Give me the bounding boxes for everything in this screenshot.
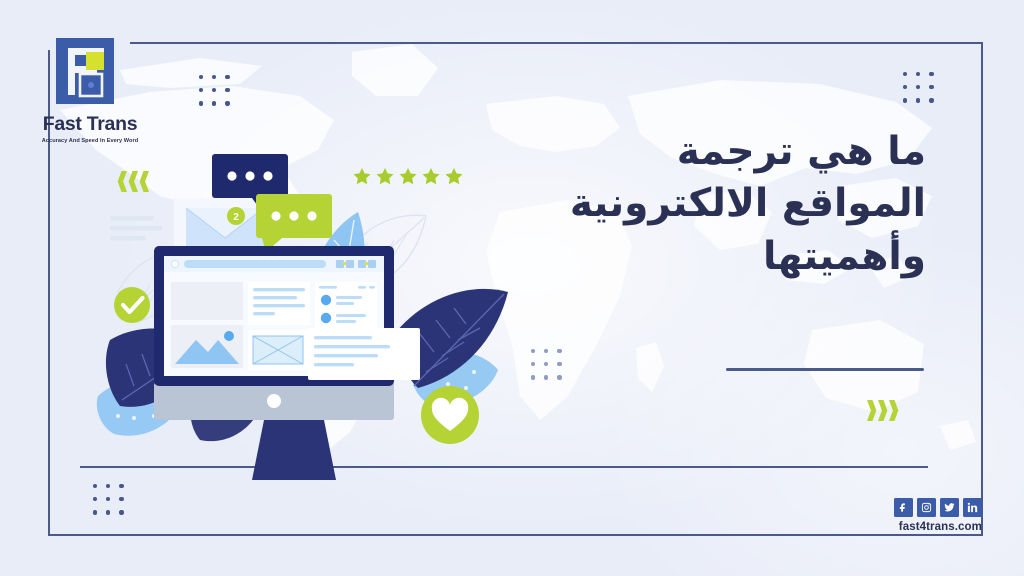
social-instagram-icon[interactable] xyxy=(917,498,936,517)
frame-bottom-border xyxy=(48,534,983,536)
brand-name: Fast Trans xyxy=(30,113,150,136)
dot-grid-top-right xyxy=(903,72,934,103)
social-twitter-icon[interactable] xyxy=(940,498,959,517)
chat-bubble-green xyxy=(256,194,332,252)
headline-underline xyxy=(726,368,924,371)
text-lines-left xyxy=(110,216,162,241)
social-facebook-icon[interactable] xyxy=(894,498,913,517)
brand-logo-block: Fast Trans Accuracy And Speed In Every W… xyxy=(30,38,150,144)
chevron-right-icon xyxy=(867,400,900,421)
dot-grid-top-left xyxy=(199,75,230,106)
social-linkedin-icon[interactable] xyxy=(963,498,982,517)
fast-trans-logo-icon xyxy=(56,38,114,104)
notification-badge: 2 xyxy=(227,207,245,225)
svg-text:2: 2 xyxy=(233,212,239,223)
frame-right-border xyxy=(981,42,983,536)
heart-badge xyxy=(421,386,479,444)
poster-canvas: Fast Trans Accuracy And Speed In Every W… xyxy=(0,0,1024,576)
brand-tagline: Accuracy And Speed In Every Word xyxy=(30,138,150,144)
dot-grid-center xyxy=(531,349,562,380)
check-badge xyxy=(114,287,150,323)
rating-stars xyxy=(354,168,463,184)
frame-top-border xyxy=(130,42,983,44)
website-url: fast4trans.com xyxy=(899,521,982,533)
floating-content-card xyxy=(308,328,420,380)
website-translation-illustration: 2 xyxy=(96,150,516,490)
social-links[interactable] xyxy=(894,498,982,517)
